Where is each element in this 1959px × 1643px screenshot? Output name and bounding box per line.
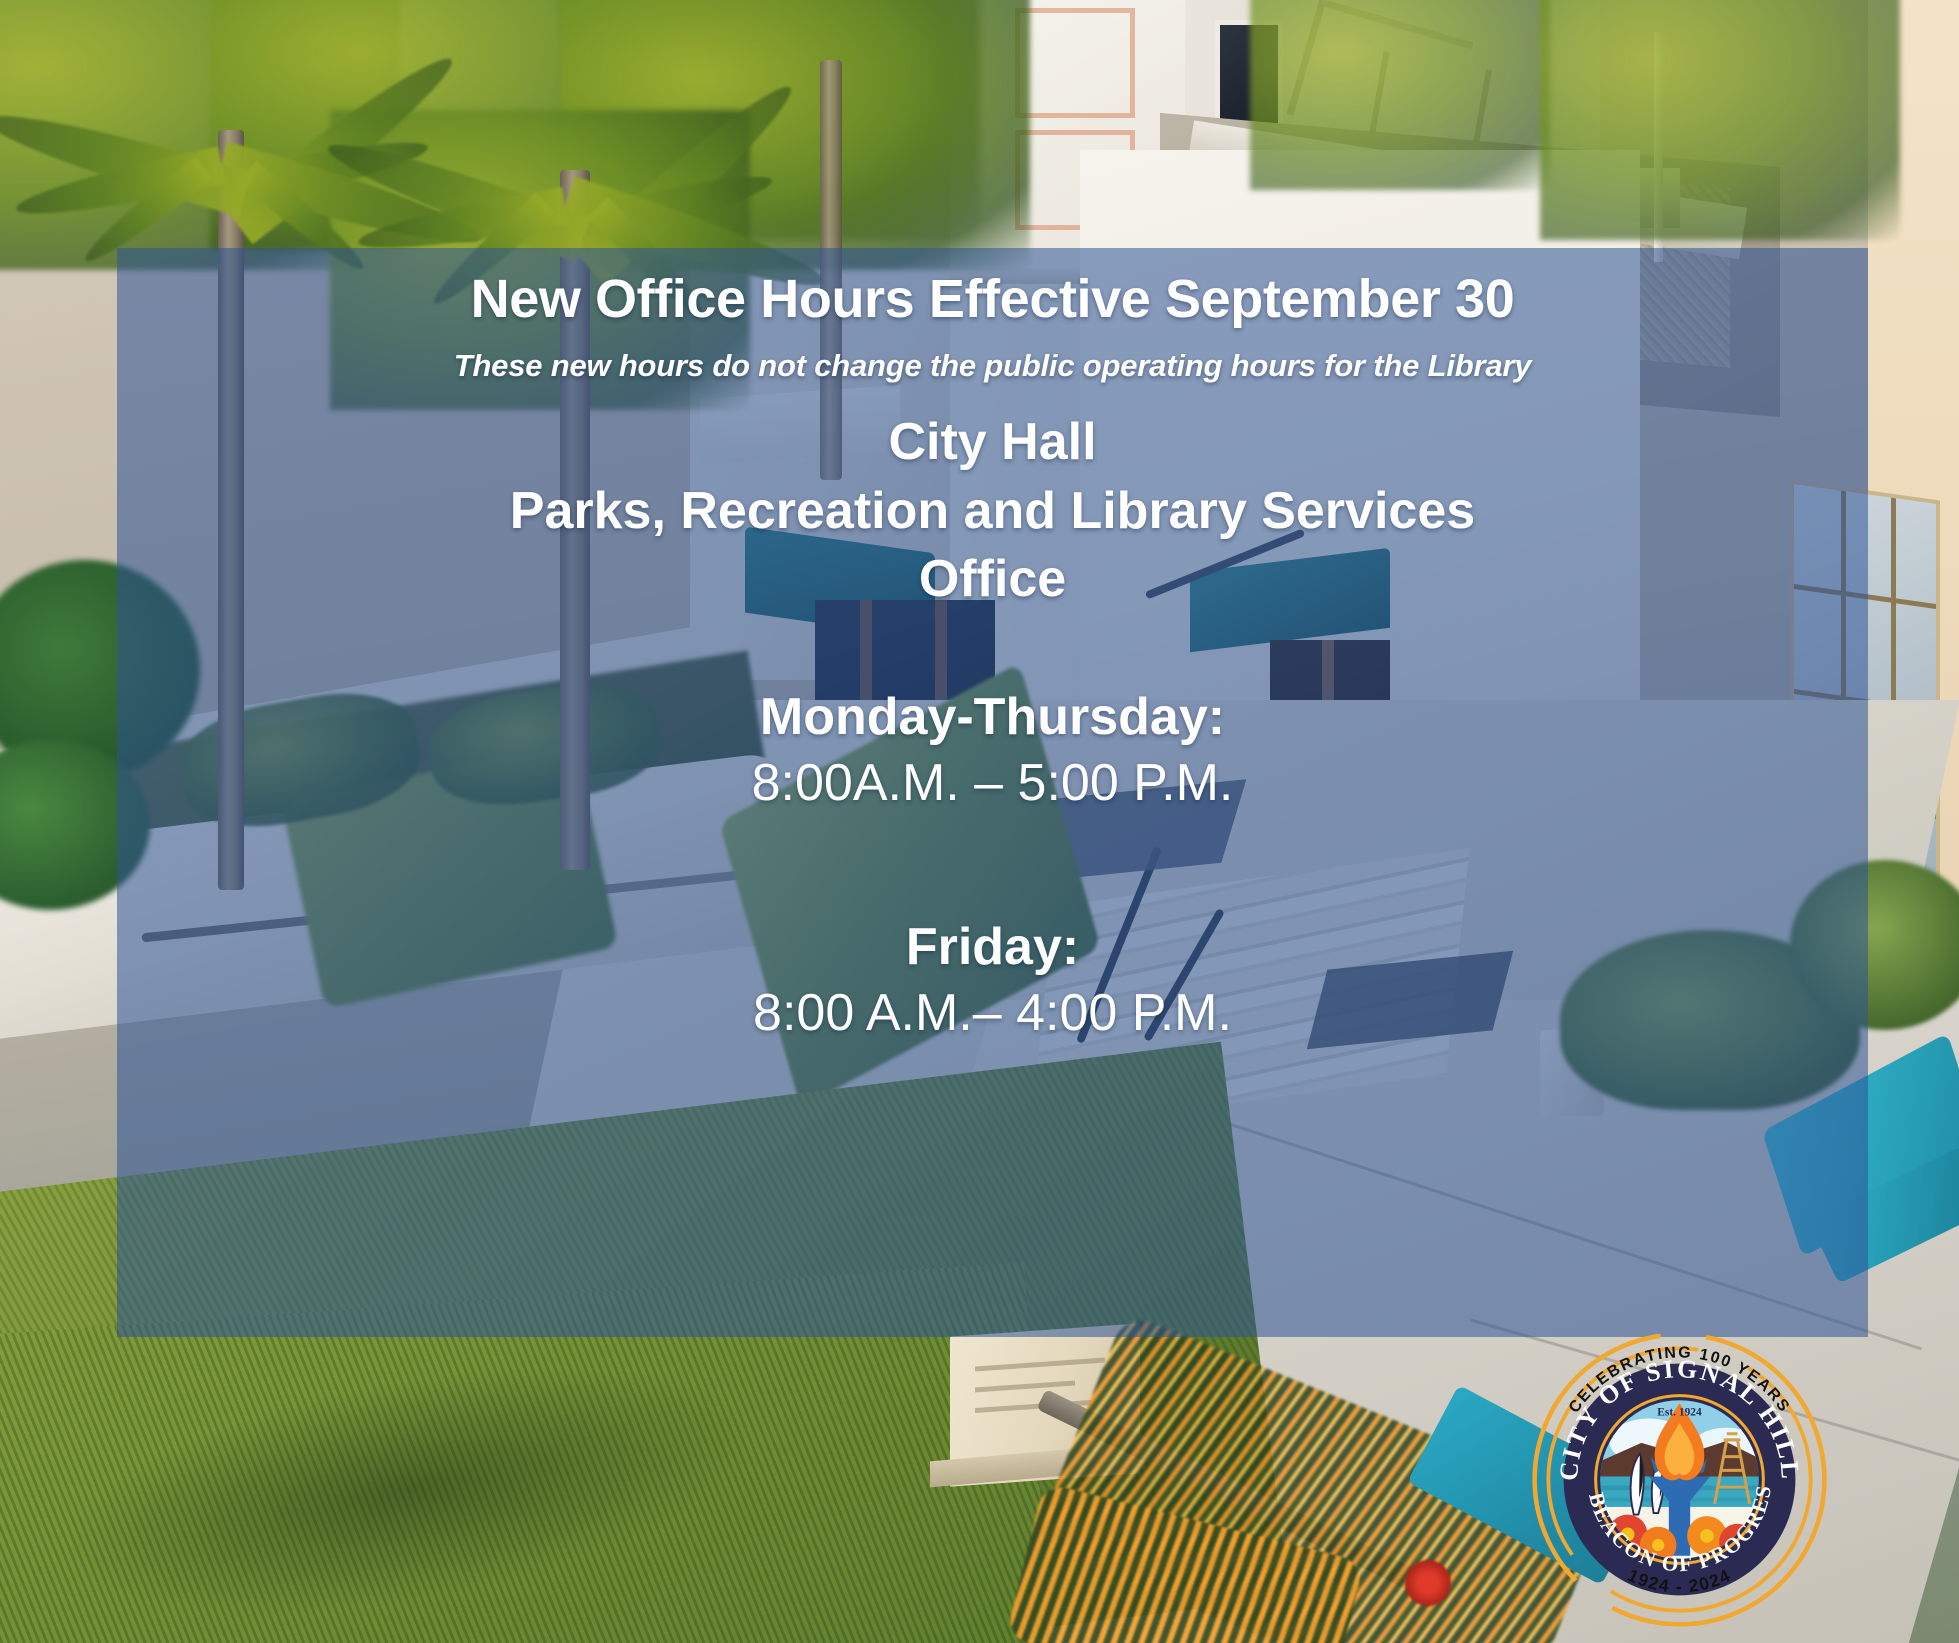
- schedule-friday: Friday: 8:00 A.M.– 4:00 P.M.: [117, 918, 1868, 1052]
- announcement-title: New Office Hours Effective September 30: [117, 268, 1868, 330]
- department-line-3: Office: [117, 545, 1868, 614]
- department-list: City Hall Parks, Recreation and Library …: [117, 408, 1868, 614]
- department-line-2: Parks, Recreation and Library Services: [117, 477, 1868, 546]
- announcement-graphic: New Office Hours Effective September 30 …: [0, 0, 1959, 1643]
- red-flower-accent: [1405, 1560, 1451, 1606]
- building-wall-trim-upper: [1015, 8, 1135, 118]
- schedule-hours-friday: 8:00 A.M.– 4:00 P.M.: [117, 976, 1868, 1051]
- palm-canopy-right: [1250, 0, 1550, 190]
- announcement-subtitle: These new hours do not change the public…: [117, 348, 1868, 384]
- schedule-label-friday: Friday:: [117, 918, 1868, 976]
- schedule-monday-thursday: Monday-Thursday: 8:00A.M. – 5:00 P.M.: [117, 688, 1868, 822]
- seal-established-text: Est. 1924: [1657, 1406, 1702, 1418]
- tree-canopy-far-right: [1540, 0, 1900, 240]
- schedule-hours-monday-thursday: 8:00A.M. – 5:00 P.M.: [117, 746, 1868, 821]
- department-line-1: City Hall: [117, 408, 1868, 477]
- schedule-label-monday-thursday: Monday-Thursday:: [117, 688, 1868, 746]
- city-of-signal-hill-seal: Est. 1924 CELEBRATING 100 YEARS 1924 - 2…: [1527, 1327, 1832, 1632]
- announcement-content: New Office Hours Effective September 30 …: [117, 248, 1868, 1337]
